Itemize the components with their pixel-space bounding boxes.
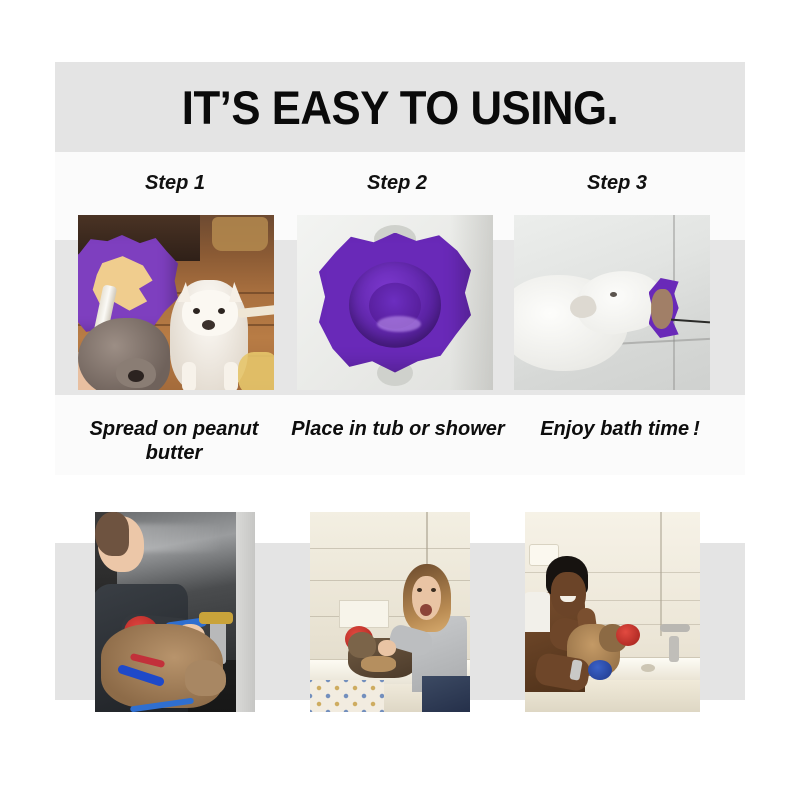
step-3-caption: Enjoy bath time ! <box>508 418 732 442</box>
white-dog-eye <box>218 308 225 314</box>
step-2-scene <box>297 215 493 390</box>
faucet-handle <box>199 612 233 624</box>
step-1-label: Step 1 <box>75 172 275 195</box>
white-dog-leg <box>224 362 238 390</box>
white-dog-eye <box>193 308 200 314</box>
man-tank-top <box>525 592 550 632</box>
woman-hand <box>378 640 396 656</box>
step-2-label: Step 2 <box>297 172 497 195</box>
gallery-photo-bathtub-man <box>525 512 700 712</box>
step-1-caption: Spread on peanut butter <box>62 418 286 465</box>
step-3-scene <box>514 215 710 390</box>
page-title: IT’S EASY TO USING. <box>79 62 721 152</box>
yellow-object <box>238 352 274 390</box>
red-lick-mat <box>616 624 640 646</box>
tub-handle <box>669 636 679 662</box>
small-dog-head <box>348 632 375 658</box>
mat-highlight <box>377 316 421 332</box>
tub-drain <box>641 664 655 672</box>
bath-rug-pattern <box>310 680 384 712</box>
white-dog-eye <box>610 292 617 297</box>
right-wall <box>236 512 255 712</box>
white-dog-nose <box>202 320 215 330</box>
gray-dog-nose <box>128 370 144 382</box>
tub-shelf <box>339 600 389 628</box>
step-3-label: Step 3 <box>517 172 717 195</box>
gallery-photo-bathtub-woman <box>310 512 470 712</box>
blue-lick-mat <box>588 660 612 680</box>
tub-faucet <box>660 624 690 632</box>
infographic-page: IT’S EASY TO USING. Step 1 Step 2 Step 3 <box>0 0 800 800</box>
gallery-3-scene <box>525 512 700 712</box>
woman-eye <box>417 588 422 592</box>
woman-jeans <box>422 676 470 712</box>
wall-corner-line <box>660 512 662 636</box>
groomer-hair <box>95 512 129 556</box>
tile-line <box>310 548 470 549</box>
step-2-caption: Place in tub or shower <box>286 418 510 442</box>
small-dog-marking <box>361 656 396 672</box>
peanut-butter-smear <box>651 289 673 329</box>
step-1-scene <box>78 215 274 390</box>
gallery-2-scene <box>310 512 470 712</box>
step-1-photo <box>78 215 274 390</box>
basket-object <box>212 217 268 251</box>
gallery-1-scene <box>95 512 255 712</box>
white-dog-leg <box>182 362 196 390</box>
step-2-photo <box>297 215 493 390</box>
step-3-photo <box>514 215 710 390</box>
woman-mouth <box>420 604 432 616</box>
gallery-photo-grooming-tub <box>95 512 255 712</box>
brown-dog-snout <box>185 660 227 696</box>
